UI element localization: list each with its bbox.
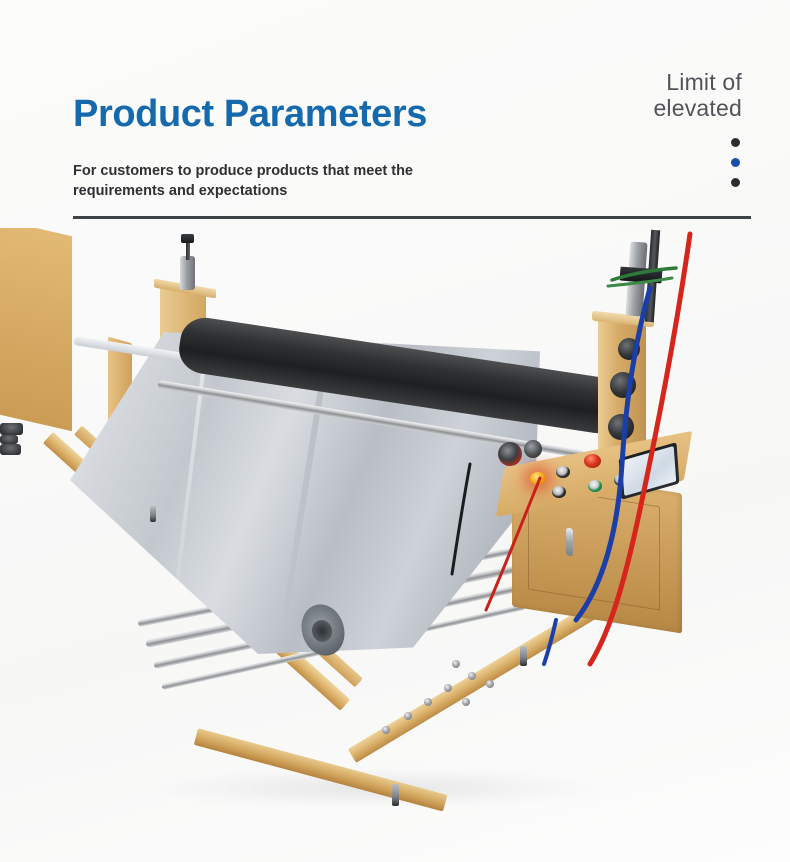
drive-motor-lower — [608, 414, 634, 440]
frame-bolt — [404, 712, 412, 720]
frame-bolt — [452, 660, 460, 668]
frame-bolt — [424, 698, 432, 706]
brand-tagline-line-1: Limit of — [512, 70, 742, 96]
brand-tagline: Limit of elevated — [512, 70, 742, 122]
page-header: Product Parameters For customers to prod… — [0, 0, 790, 222]
frame-bolt — [486, 680, 494, 688]
roller-bearing-red — [498, 442, 522, 466]
pagination-dot-3[interactable] — [731, 178, 740, 187]
page-subtitle: For customers to produce products that m… — [73, 162, 473, 201]
selector-knob-2[interactable] — [552, 486, 566, 498]
page-root: Product Parameters For customers to prod… — [0, 0, 790, 862]
header-divider — [73, 216, 751, 219]
product-photo — [0, 228, 790, 862]
leveling-foot-post — [150, 506, 156, 522]
frame-bolt — [382, 726, 390, 734]
frame-end-plate — [0, 228, 72, 431]
leveling-foot-pad — [0, 423, 23, 435]
indicator-lamp — [530, 472, 546, 485]
pagination-dots[interactable] — [728, 138, 742, 187]
machine-illustration — [0, 228, 790, 862]
frame-bolt — [462, 698, 470, 706]
pneumatic-cylinder-left — [180, 256, 195, 290]
cylinder-cap-left — [181, 234, 194, 243]
frame-bolt — [444, 684, 452, 692]
brand-tagline-line-2: elevated — [512, 96, 742, 122]
leveling-foot-pad — [0, 444, 21, 455]
leveling-foot-post — [520, 646, 527, 666]
roller-bearing — [524, 440, 542, 458]
pagination-dot-2[interactable] — [731, 158, 740, 167]
leveling-foot-pad — [0, 435, 18, 444]
start-button-green[interactable] — [588, 480, 602, 492]
drive-motor-top — [618, 338, 640, 360]
pagination-dot-1[interactable] — [731, 138, 740, 147]
control-cabinet-handle[interactable] — [566, 527, 573, 556]
emergency-stop-button[interactable] — [584, 454, 601, 468]
leveling-foot-post — [392, 784, 399, 806]
page-title: Product Parameters — [73, 95, 427, 133]
cylinder-mount-block — [620, 267, 663, 284]
selector-knob-1[interactable] — [556, 466, 570, 478]
frame-bolt — [468, 672, 476, 680]
drive-motor-upper — [610, 372, 636, 398]
